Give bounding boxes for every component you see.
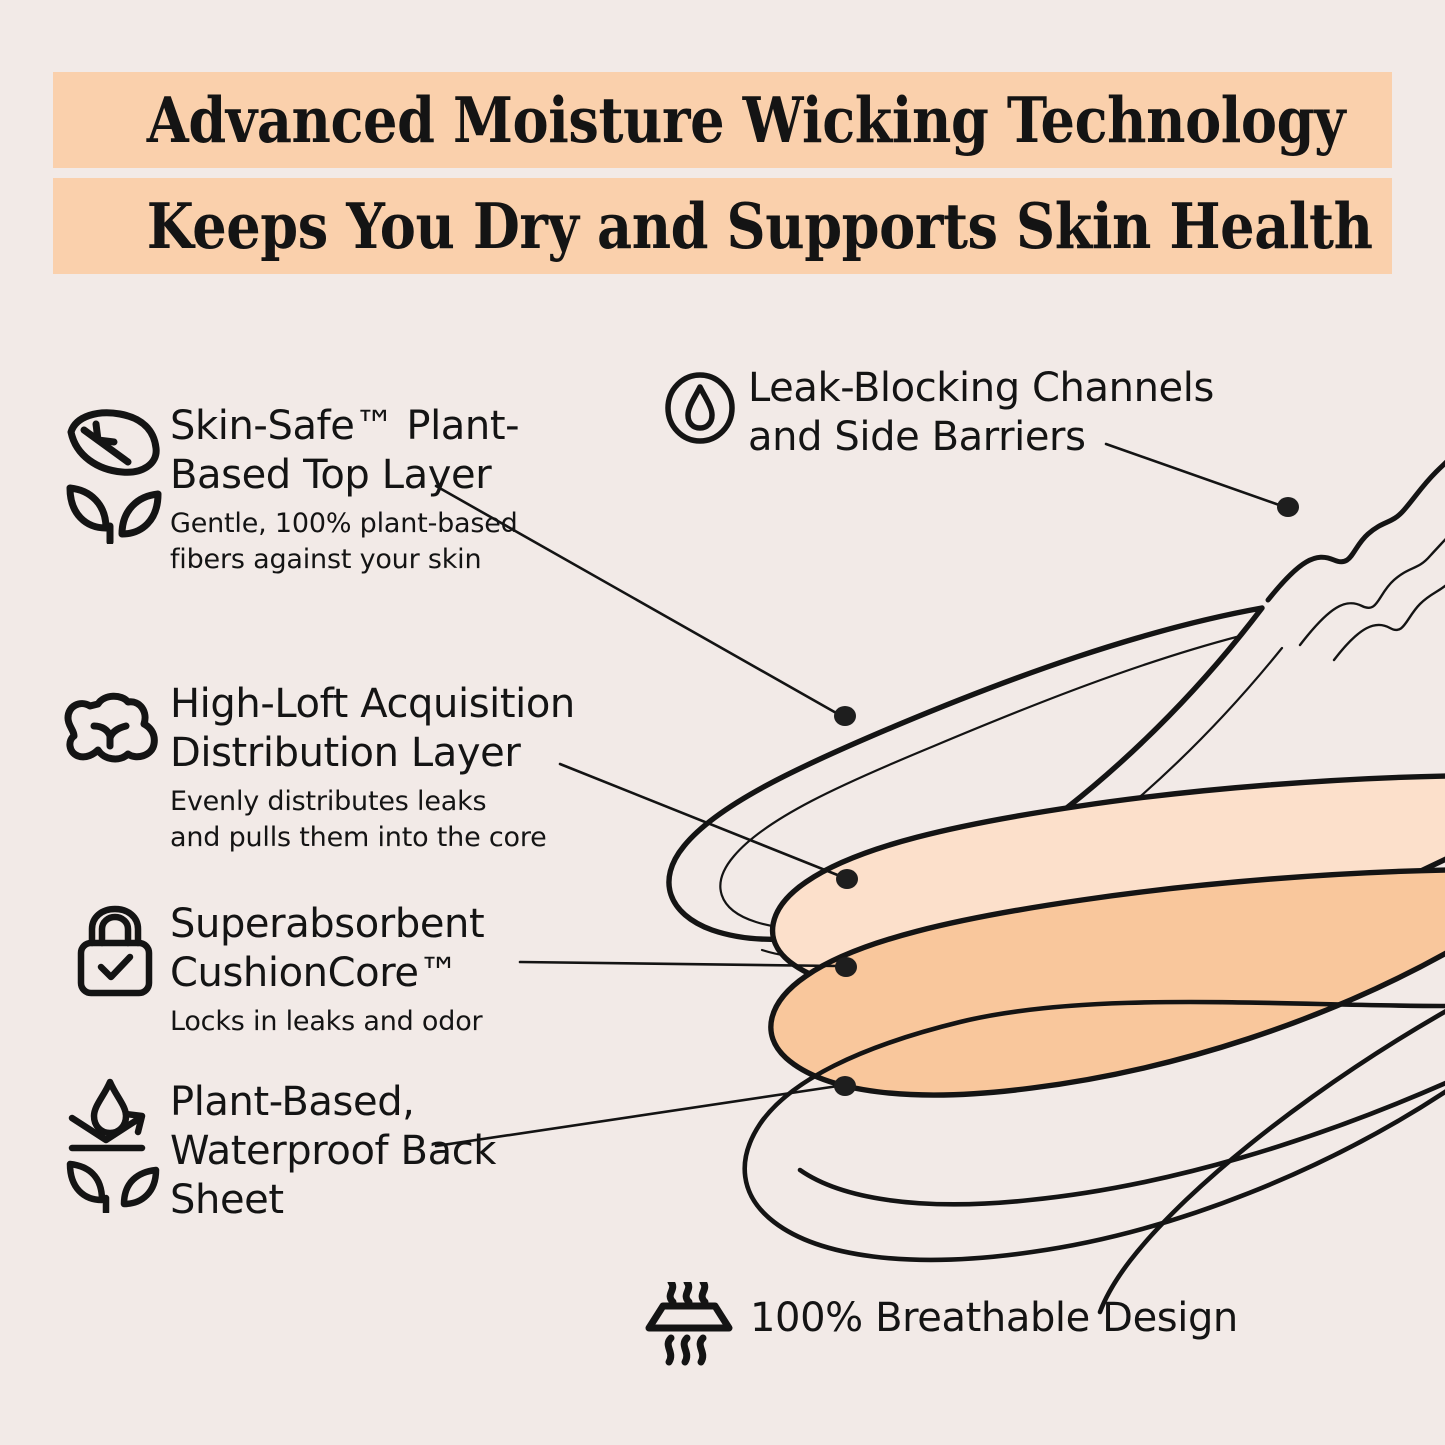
callout-acquisition-layer: High-Loft Acquisition Distribution Layer… [170, 680, 640, 856]
dot-leak-channels [1277, 497, 1299, 517]
headline-band-1: Advanced Moisture Wicking Technology [53, 72, 1392, 168]
callout-back-sheet: Plant-Based, Waterproof Back Sheet [170, 1078, 570, 1225]
side-barrier-ruffles-inner [1300, 532, 1445, 660]
dot-back-sheet [834, 1076, 856, 1096]
callout-leak-channels-title: Leak-Blocking Channels and Side Barriers [748, 364, 1268, 462]
headline-block: Advanced Moisture Wicking Technology Kee… [0, 72, 1445, 284]
headline-line-1: Advanced Moisture Wicking Technology [147, 72, 1299, 168]
headline-band-2: Keeps You Dry and Supports Skin Health [53, 178, 1392, 274]
callout-breathable-design-title: 100% Breathable Design [750, 1294, 1290, 1343]
droplet-circle-icon [664, 372, 736, 444]
callout-back-sheet-title: Plant-Based, Waterproof Back Sheet [170, 1078, 570, 1225]
infographic-page: Advanced Moisture Wicking Technology Kee… [0, 0, 1445, 1445]
callout-top-layer-subtitle: Gentle, 100% plant-based fibers against … [170, 506, 590, 578]
breathable-fabric-icon [643, 1282, 735, 1372]
callout-leak-channels: Leak-Blocking Channels and Side Barriers [748, 364, 1268, 462]
callout-breathable-design: 100% Breathable Design [750, 1294, 1290, 1343]
cloud-fluff-icon [62, 688, 162, 768]
headline-line-2: Keeps You Dry and Supports Skin Health [147, 178, 1299, 274]
padlock-check-icon [74, 905, 156, 997]
dot-adl [836, 869, 858, 889]
side-barrier-ruffles [1268, 456, 1445, 600]
water-repel-sprout-icon [62, 1078, 164, 1213]
callout-acquisition-layer-subtitle: Evenly distributes leaks and pulls them … [170, 784, 640, 856]
callout-top-layer-title: Skin-Safe™ Plant-Based Top Layer [170, 402, 590, 500]
dot-top-layer [834, 706, 856, 726]
leaf-sprout-icon [62, 404, 167, 544]
callout-absorbent-core-subtitle: Locks in leaks and odor [170, 1004, 600, 1040]
callout-absorbent-core: Superabsorbent CushionCore™ Locks in lea… [170, 900, 600, 1040]
callout-top-layer: Skin-Safe™ Plant-Based Top Layer Gentle,… [170, 402, 590, 578]
dot-core [835, 957, 857, 977]
callout-absorbent-core-title: Superabsorbent CushionCore™ [170, 900, 600, 998]
callout-acquisition-layer-title: High-Loft Acquisition Distribution Layer [170, 680, 640, 778]
